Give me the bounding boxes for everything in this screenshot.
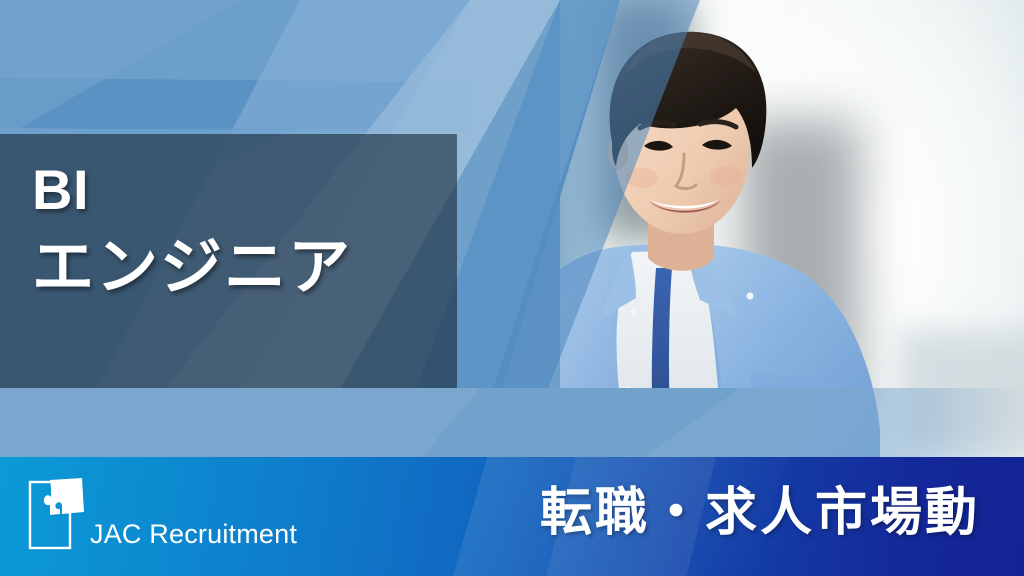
puzzle-piece-icon — [28, 478, 86, 550]
title-line-primary: BI — [32, 160, 452, 220]
jac-logo[interactable]: JAC Recruitment — [28, 478, 86, 550]
jac-recruitment-banner: BI エンジニア JAC Recruitment 転職・求人市場動 — [0, 0, 1024, 576]
page-title: BI エンジニア — [32, 160, 452, 303]
logo-wordmark: JAC Recruitment — [90, 521, 297, 548]
title-line-secondary: エンジニア — [32, 234, 452, 302]
logo-mark — [28, 478, 86, 550]
bar-headline: 転職・求人市場動 — [540, 487, 980, 539]
